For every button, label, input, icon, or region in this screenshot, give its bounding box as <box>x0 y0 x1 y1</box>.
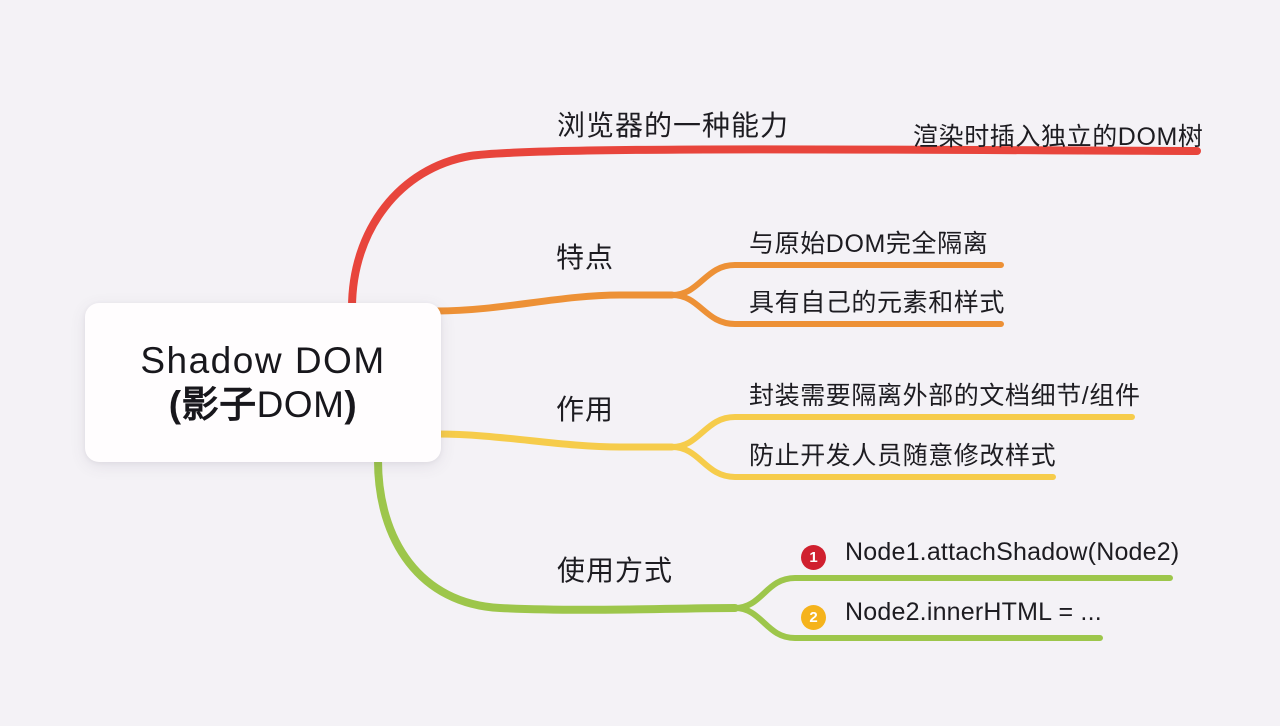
branch-label-purpose[interactable]: 作用 <box>556 388 614 428</box>
child-label-features-2[interactable]: 具有自己的元素和样式 <box>749 283 1005 319</box>
root-node-title-latin: DOM <box>257 384 345 425</box>
root-node[interactable]: Shadow DOM (影子DOM) <box>85 303 441 462</box>
branch-path-purpose-trunk <box>437 434 672 447</box>
root-node-title-cn-open: (影子 <box>169 384 257 425</box>
badge-usage-2: 2 <box>801 605 826 630</box>
child-label-usage-2[interactable]: Node2.innerHTML = ... <box>845 598 1102 627</box>
branch-label-features[interactable]: 特点 <box>556 236 614 276</box>
root-node-title-line2: (影子DOM) <box>169 383 357 427</box>
child-label-purpose-2[interactable]: 防止开发人员随意修改样式 <box>749 436 1056 472</box>
mindmap-canvas: Shadow DOM (影子DOM) 浏览器的一种能力 渲染时插入独立的DOM树… <box>0 0 1280 726</box>
child-label-purpose-1[interactable]: 封装需要隔离外部的文档细节/组件 <box>749 376 1141 412</box>
root-node-title-cn-close: ) <box>344 384 357 425</box>
child-label-usage-1[interactable]: Node1.attachShadow(Node2) <box>845 538 1179 567</box>
child-label-browser-capability-1[interactable]: 渲染时插入独立的DOM树 <box>913 117 1204 153</box>
branch-label-usage[interactable]: 使用方式 <box>557 549 673 589</box>
child-label-features-1[interactable]: 与原始DOM完全隔离 <box>749 224 988 260</box>
root-node-title-line1: Shadow DOM <box>140 339 385 383</box>
branch-path-features-trunk <box>437 295 672 311</box>
badge-usage-1: 1 <box>801 545 826 570</box>
branch-label-browser-capability[interactable]: 浏览器的一种能力 <box>557 104 789 144</box>
